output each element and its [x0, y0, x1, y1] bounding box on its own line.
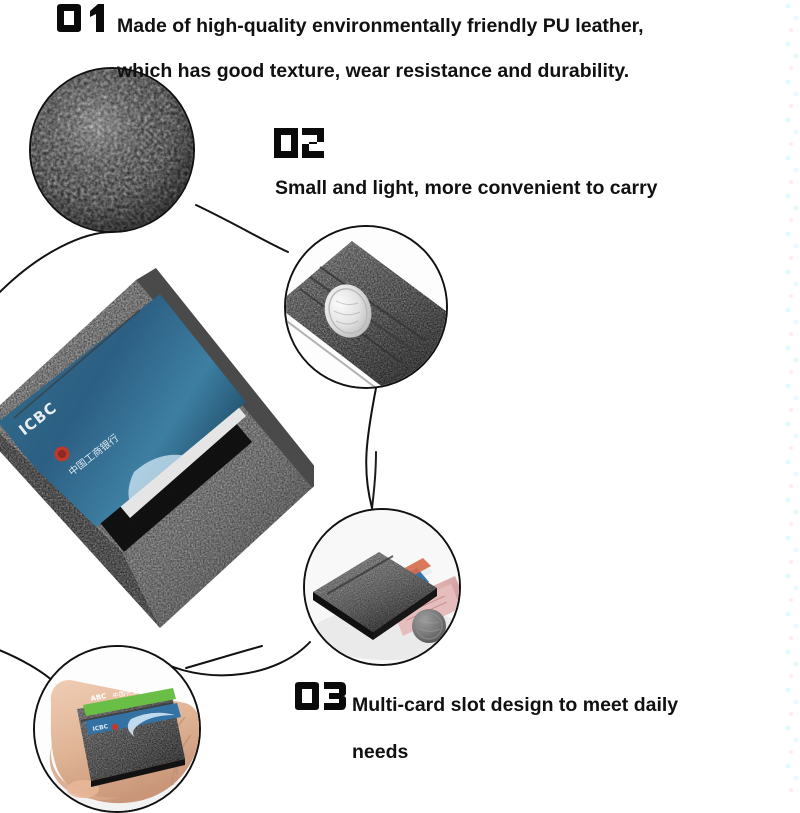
infographic-canvas: ICBC 中国工商银行 — [0, 0, 800, 800]
coin — [412, 609, 446, 643]
callout-circle-coin-scale — [284, 225, 448, 389]
feature-number-01 — [54, 3, 112, 33]
feature-number-03-glyphs — [293, 681, 349, 711]
feature-text-02: Small and light, more convenient to carr… — [275, 173, 658, 203]
wallet-cards-cash-image — [305, 510, 459, 664]
feature-text-01-line2: which has good texture, wear resistance … — [117, 49, 644, 94]
feature-number-02 — [273, 127, 325, 159]
feature-text-01-line1: Made of high-quality environmentally fri… — [117, 4, 644, 49]
feature-number-02-glyphs — [273, 127, 325, 159]
feature-number-01-glyphs — [54, 3, 112, 33]
svg-text:ICBC: ICBC — [15, 398, 60, 439]
feature-number-03 — [293, 681, 349, 711]
feature-text-03-line2: needs — [352, 729, 678, 776]
callout-circle-hand-holding: ABC 中国农业银行 ICBC — [33, 645, 201, 813]
callout-circle-cards-cash — [303, 508, 461, 666]
feature-text-03: Multi-card slot design to meet daily nee… — [352, 682, 678, 776]
main-wallet-photo: ICBC 中国工商银行 — [0, 222, 314, 632]
hand-holding-wallet-image: ABC 中国农业银行 ICBC — [35, 647, 199, 811]
feature-text-01: Made of high-quality environmentally fri… — [117, 4, 644, 94]
feature-text-02-line1: Small and light, more convenient to carr… — [275, 173, 658, 203]
svg-text:中国工商银行: 中国工商银行 — [66, 431, 121, 478]
feature-text-03-line1: Multi-card slot design to meet daily — [352, 682, 678, 729]
watermark-strip — [784, 0, 800, 800]
wallet-coin-scale-image — [286, 227, 446, 387]
